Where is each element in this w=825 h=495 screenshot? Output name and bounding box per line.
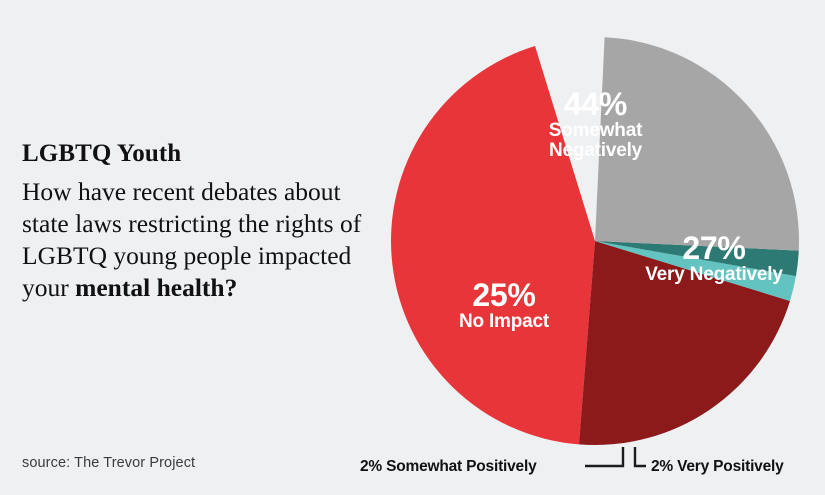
pie-slices [391, 37, 799, 445]
callout-somewhat-positively: 2% Somewhat Positively [360, 458, 537, 476]
callout-leader-lines [585, 447, 646, 466]
pie-chart: 44% Somewhat Negatively 27% Very Negativ… [0, 0, 825, 495]
infographic-page: LGBTQ Youth How have recent debates abou… [0, 0, 825, 495]
pie-slice-somewhat-negatively[interactable] [391, 46, 595, 444]
pie-chart-svg [0, 0, 825, 495]
leader-line-somewhat-positively [585, 447, 623, 466]
pie-slice-no-impact[interactable] [595, 37, 799, 250]
leader-line-very-positively [635, 447, 646, 466]
callout-very-positively: 2% Very Positively [651, 458, 784, 476]
